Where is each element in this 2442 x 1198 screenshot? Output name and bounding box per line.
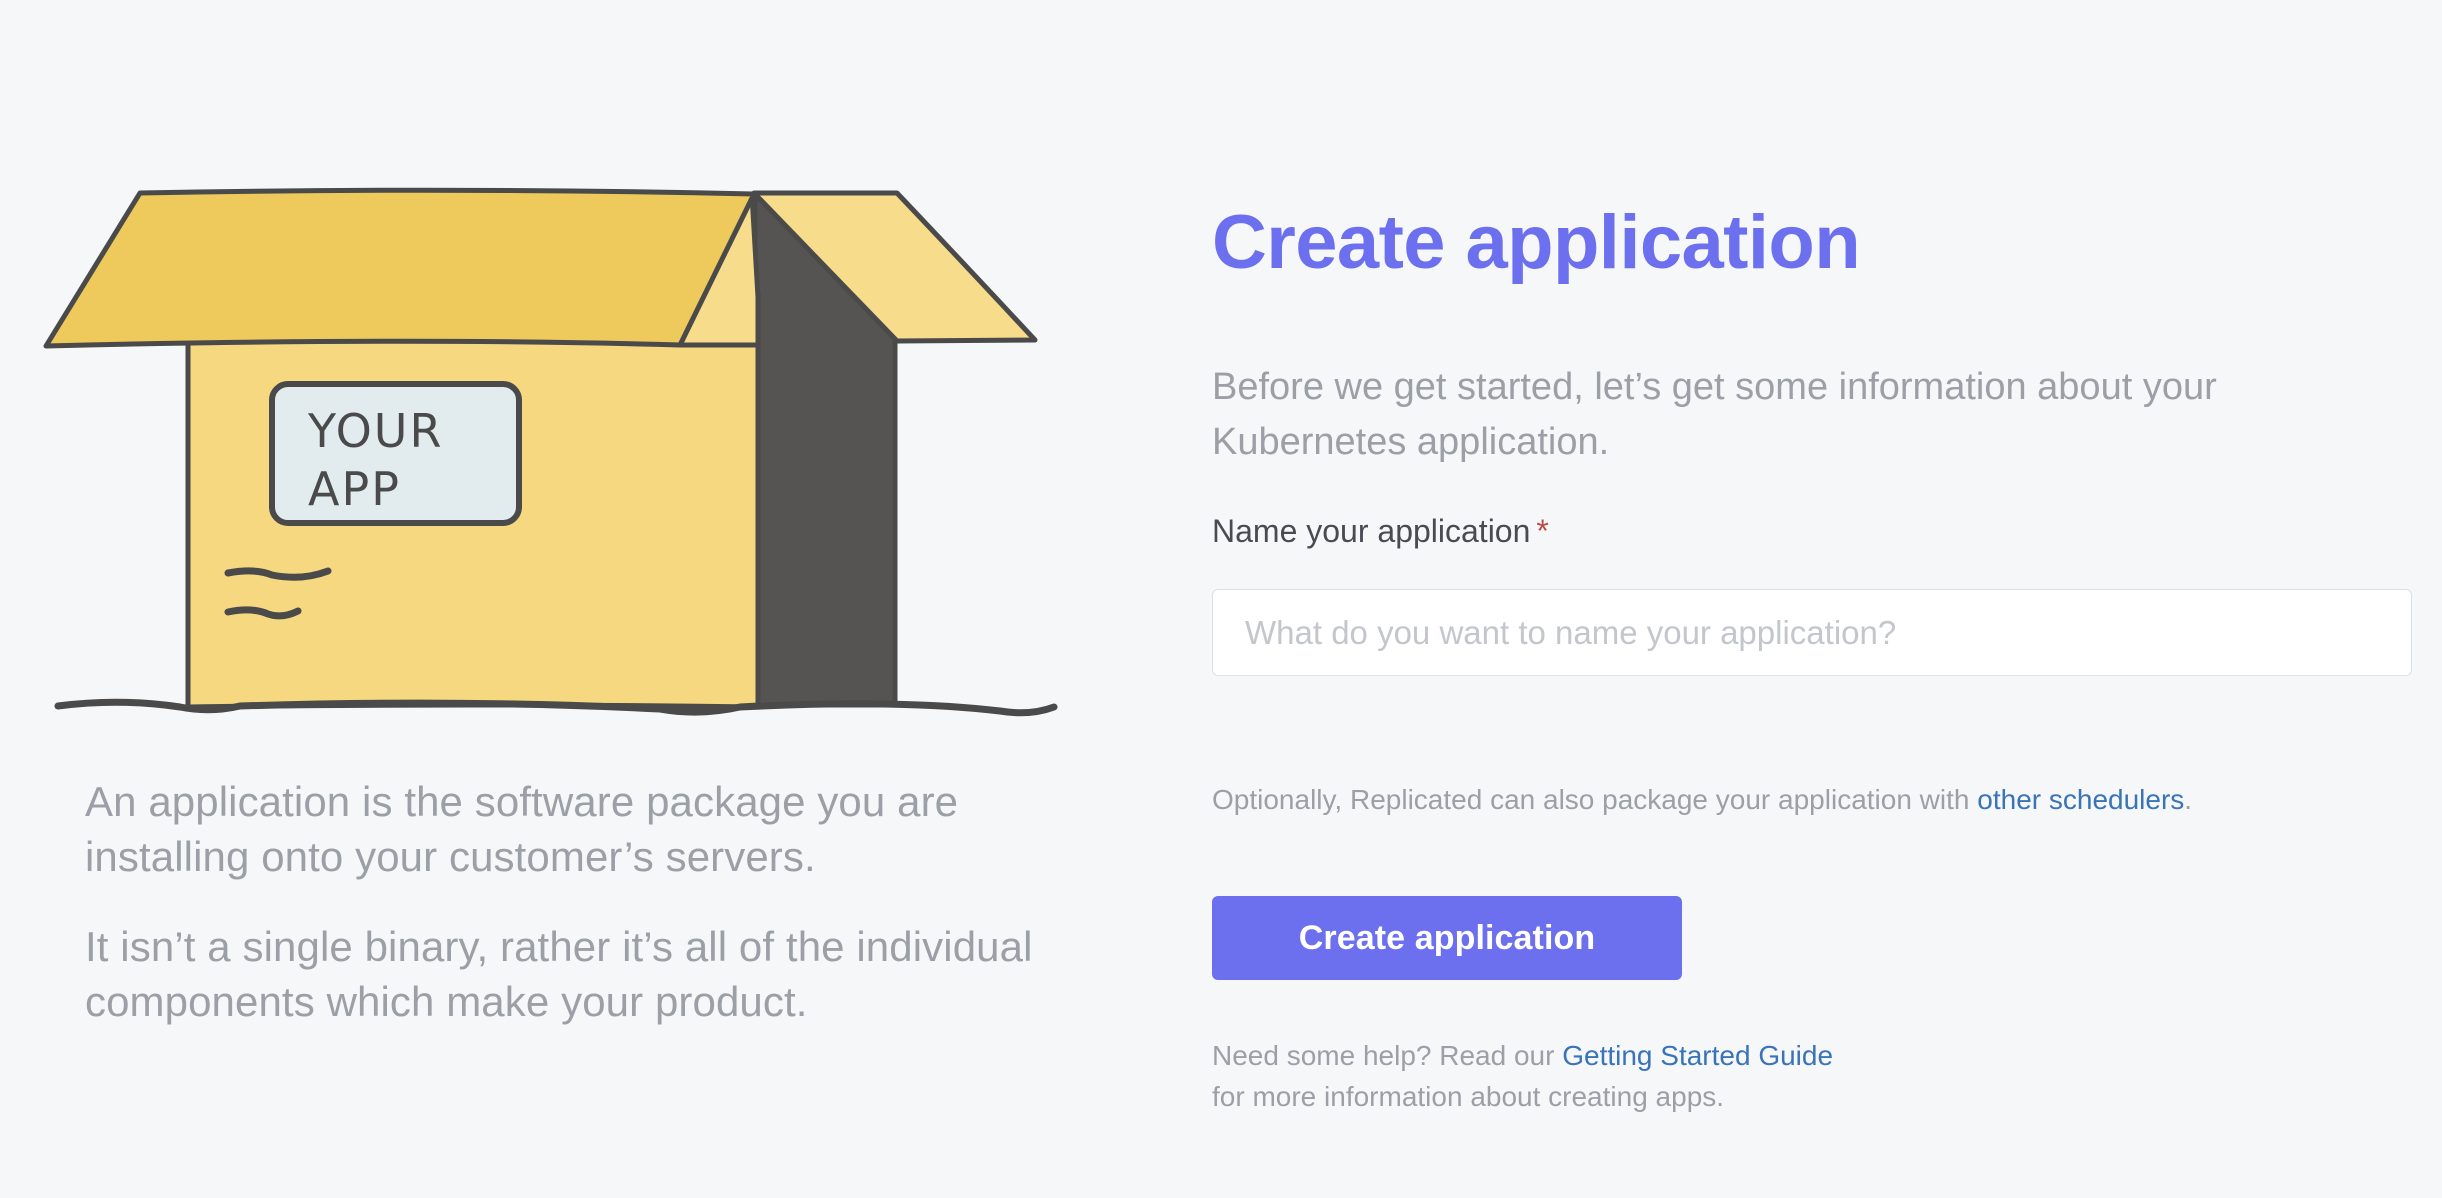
help-note: Need some help? Read our Getting Started… xyxy=(1212,1036,2212,1117)
create-application-page: YOUR APP An application is the software … xyxy=(0,0,2442,1198)
box-label-line-2: APP xyxy=(308,462,401,516)
help-note-line-1: Need some help? Read our Getting Started… xyxy=(1212,1036,2212,1077)
box-label-line-1: YOUR xyxy=(307,404,443,458)
left-paragraph-2: It isn’t a single binary, rather it’s al… xyxy=(85,920,1045,1029)
cardboard-box-svg: YOUR APP xyxy=(40,185,1070,730)
help-note-line-2: for more information about creating apps… xyxy=(1212,1077,2212,1118)
application-name-input[interactable] xyxy=(1212,589,2412,676)
left-paragraph-1: An application is the software package y… xyxy=(85,775,1045,884)
name-field-label-group: Name your application* xyxy=(1212,512,1549,550)
left-description: An application is the software package y… xyxy=(85,775,1045,1029)
required-asterisk-icon: * xyxy=(1536,513,1548,549)
left-column: YOUR APP An application is the software … xyxy=(0,0,1130,1198)
page-title: Create application xyxy=(1212,205,1860,281)
other-schedulers-link[interactable]: other schedulers xyxy=(1977,784,2184,815)
page-subtitle: Before we get started, let’s get some in… xyxy=(1212,360,2352,470)
create-application-button[interactable]: Create application xyxy=(1212,896,1682,980)
optional-schedulers-note: Optionally, Replicated can also package … xyxy=(1212,782,2192,818)
name-field-label: Name your application xyxy=(1212,513,1530,549)
box-flap-left xyxy=(46,190,754,346)
getting-started-guide-link[interactable]: Getting Started Guide xyxy=(1562,1040,1833,1071)
optional-note-prefix: Optionally, Replicated can also package … xyxy=(1212,784,1977,815)
help-note-prefix: Need some help? Read our xyxy=(1212,1040,1562,1071)
right-column: Create application Before we get started… xyxy=(1212,0,2412,1198)
optional-note-suffix: . xyxy=(2184,784,2192,815)
cardboard-box-illustration: YOUR APP xyxy=(40,185,1070,730)
